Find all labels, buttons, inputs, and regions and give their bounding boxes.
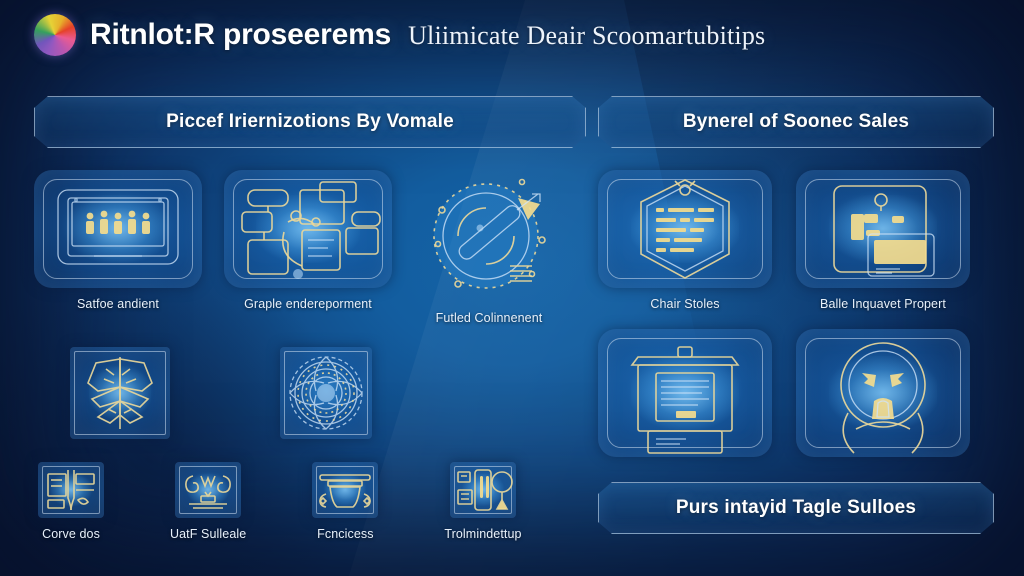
tile-caption: Fcncicess: [317, 527, 373, 541]
right-row-1: Chair Stoles: [598, 170, 994, 311]
tile-caption: Graple endereporment: [244, 297, 372, 311]
right-footer-banner[interactable]: Purs intayid Tagle Sulloes: [598, 482, 994, 534]
tile-caption: Chair Stoles: [650, 297, 719, 311]
page-title: Ritnlot:R proseerems: [90, 18, 391, 52]
title-group: Ritnlot:R proseerems Uliimicate Deair Sc…: [90, 18, 765, 52]
dual-spiral-stand-icon: [175, 462, 241, 518]
left-row-1: Satfoe andient: [34, 170, 586, 325]
card-screen-overlay-icon: [796, 170, 970, 288]
right-section: Bynerel of Soonec Sales: [598, 96, 994, 534]
tile-satfoe-andient[interactable]: Satfoe andient: [34, 170, 202, 325]
right-row-2: [598, 329, 994, 466]
right-section-banner-label: Bynerel of Soonec Sales: [683, 111, 909, 133]
floral-network-circle-icon: [280, 347, 372, 439]
tile-caption: Corve dos: [42, 527, 100, 541]
tile-kiosk-document[interactable]: [598, 329, 772, 466]
tile-graple-endereporment[interactable]: Graple endereporment: [224, 170, 392, 325]
tile-circular-arrows-badge[interactable]: [796, 329, 970, 466]
left-row-2: [34, 347, 586, 448]
phone-magnifier-alert-icon: [450, 462, 516, 518]
tile-caption: Balle Inquavet Propert: [820, 297, 946, 311]
document-panel-icon: [38, 462, 104, 518]
tile-caption: Satfoe andient: [77, 297, 159, 311]
tile-caption: UatF Sulleale: [170, 527, 246, 541]
left-section-banner[interactable]: Piccef Iriernizotions By Vomale: [34, 96, 586, 148]
tile-corve-dos[interactable]: Corve dos: [38, 462, 104, 541]
tile-chair-stoles[interactable]: Chair Stoles: [598, 170, 772, 311]
tile-fcncicess[interactable]: Fcncicess: [312, 462, 378, 541]
circular-gauge-arrow-icon: [414, 170, 564, 302]
left-section-banner-label: Piccef Iriernizotions By Vomale: [166, 111, 454, 133]
poster-header: Ritnlot:R proseerems Uliimicate Deair Sc…: [34, 14, 765, 56]
tile-futled-colinnenent[interactable]: Futled Colinnenent: [414, 170, 564, 325]
tile-floral-network[interactable]: [280, 347, 372, 448]
right-footer-banner-label: Purs intayid Tagle Sulloes: [676, 497, 916, 519]
colorful-sphere-logo-icon: [34, 14, 76, 56]
kiosk-document-icon: [598, 329, 772, 457]
monitor-people-icon: [34, 170, 202, 288]
infographic-poster: Ritnlot:R proseerems Uliimicate Deair Sc…: [0, 0, 1024, 576]
page-subtitle: Uliimicate Deair Scoomartubitips: [408, 21, 765, 51]
machinery-cluster-icon: [224, 170, 392, 288]
left-row-3: Corve dos: [34, 462, 586, 541]
left-section: Piccef Iriernizotions By Vomale: [34, 96, 586, 541]
hexagon-badge-text-icon: [598, 170, 772, 288]
tile-uatf-sulleale[interactable]: UatF Sulleale: [170, 462, 246, 541]
tile-caption: Futled Colinnenent: [436, 311, 543, 325]
tile-symmetric-wings[interactable]: [70, 347, 170, 448]
tile-caption: Trolmindettup: [444, 527, 521, 541]
circular-arrows-badge-icon: [796, 329, 970, 457]
tile-balle-inquavet-propert[interactable]: Balle Inquavet Propert: [796, 170, 970, 311]
right-section-banner[interactable]: Bynerel of Soonec Sales: [598, 96, 994, 148]
tile-trolmindettup[interactable]: Trolmindettup: [444, 462, 521, 541]
pot-container-icon: [312, 462, 378, 518]
symmetric-wings-icon: [70, 347, 170, 439]
